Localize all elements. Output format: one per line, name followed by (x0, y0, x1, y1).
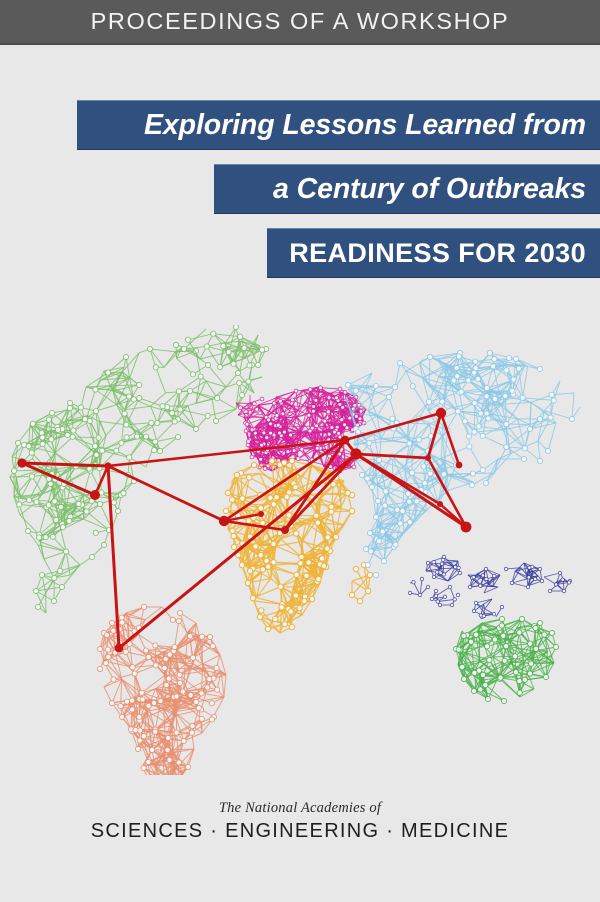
outbreak-route-overlay (17, 408, 471, 653)
national-academies-logo: The National Academies of SCIENCES · ENG… (0, 800, 600, 843)
title-line-1: Exploring Lessons Learned from (77, 100, 600, 150)
world-map-illustration (0, 325, 600, 775)
world-map-network-svg (0, 325, 600, 775)
proceedings-label: PROCEEDINGS OF A WORKSHOP (0, 0, 600, 43)
region-oceania (453, 616, 558, 703)
region-asia (345, 350, 580, 577)
logo-line-the-national-academies-of: The National Academies of (0, 800, 600, 817)
region-maritime-southeast-asia (408, 555, 571, 618)
header-band: PROCEEDINGS OF A WORKSHOP (0, 0, 600, 45)
title-line-2: a Century of Outbreaks (214, 164, 600, 214)
title-line-3: READINESS FOR 2030 (267, 228, 600, 278)
logo-line-sciences-engineering-medicine: SCIENCES · ENGINEERING · MEDICINE (0, 820, 600, 843)
book-cover: PROCEEDINGS OF A WORKSHOP Exploring Less… (0, 0, 600, 902)
region-north-america (10, 325, 269, 613)
